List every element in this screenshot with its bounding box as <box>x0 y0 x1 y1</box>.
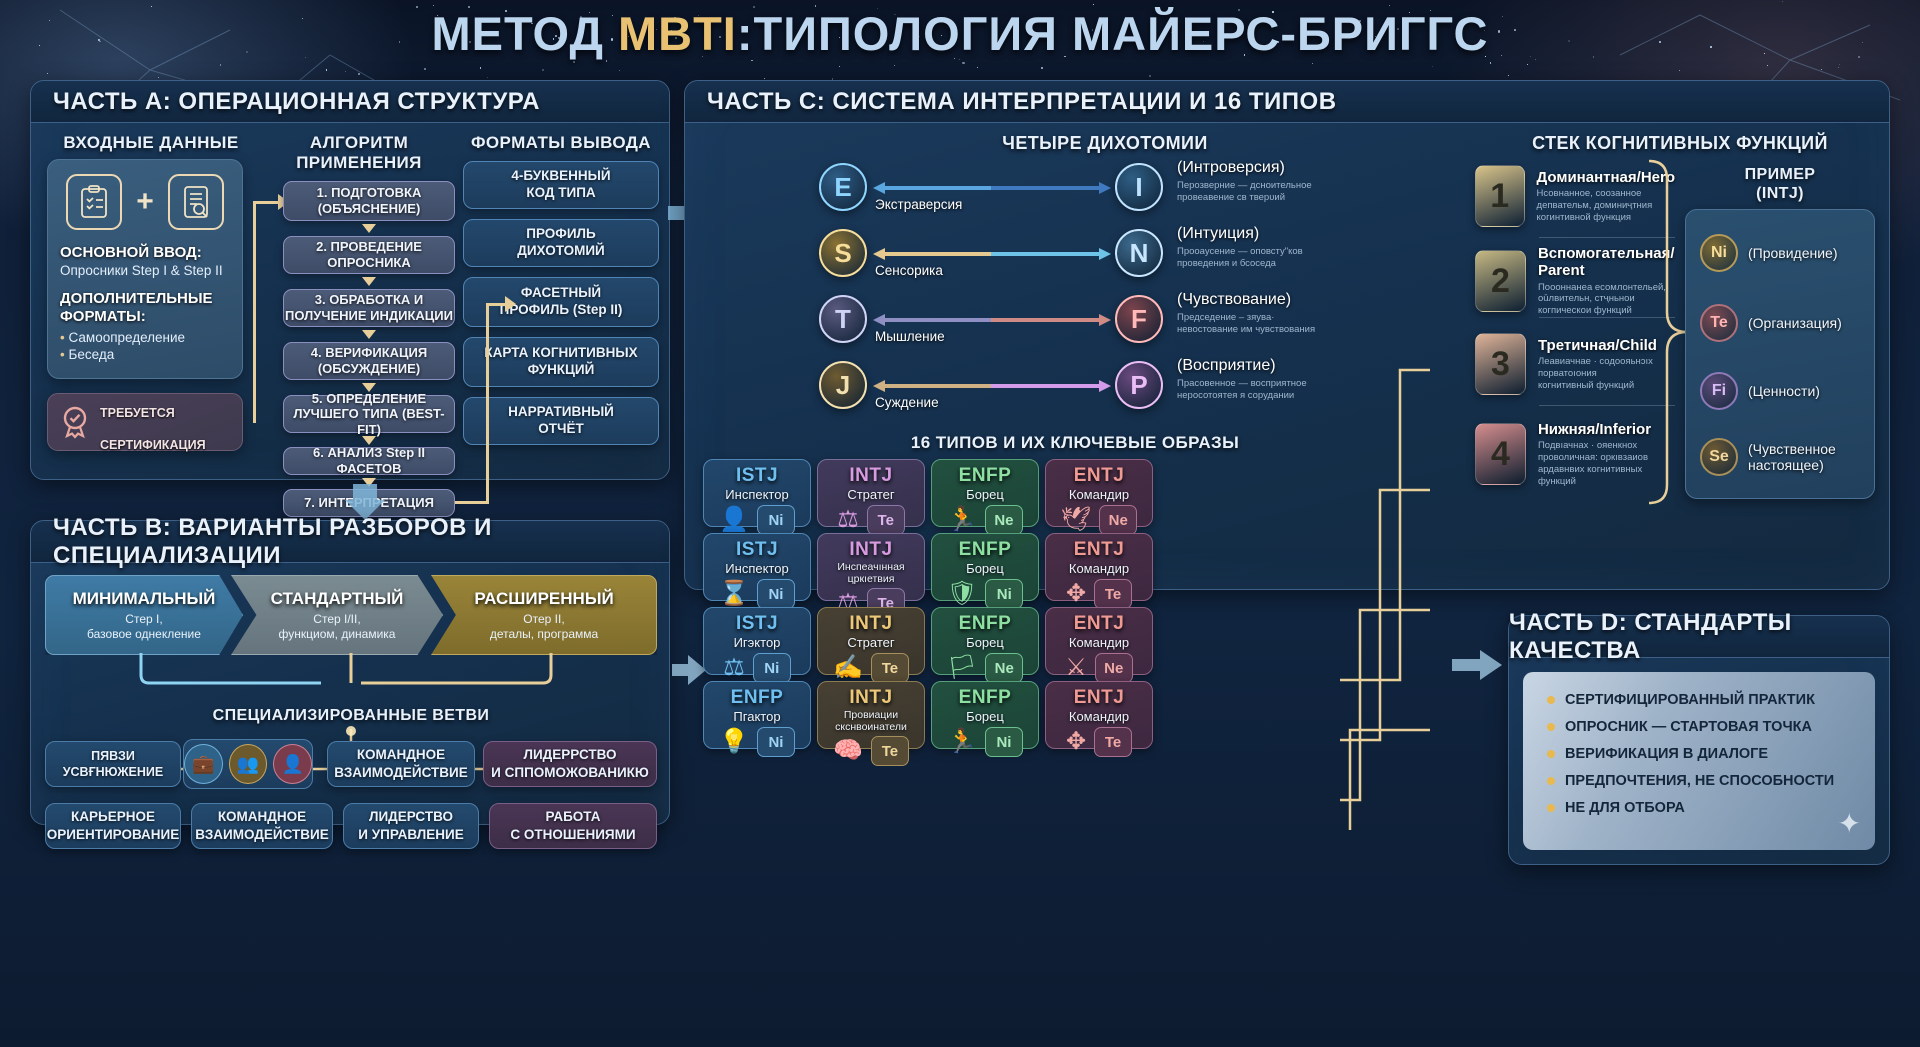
arrow-to-part-d <box>1452 650 1502 685</box>
type-symbol-icon: 🏃 <box>947 508 977 532</box>
step-box-6[interactable]: 6. АНАЛИЗ Step II ФАСЕТОВ <box>283 447 455 475</box>
example-function-label: (Организация) <box>1748 315 1842 331</box>
arrow-b-to-c <box>672 655 706 690</box>
example-function-label: (Провидение) <box>1748 245 1838 261</box>
title-prefix: МЕТОД <box>431 7 618 60</box>
flow-line <box>486 303 489 503</box>
type-function-badge: Ni <box>985 727 1023 757</box>
type-symbol-icon: ⚖ <box>723 656 745 680</box>
certification-required-badge: ТРЕБУЕТСЯ СЕРТИФИКАЦИЯ <box>47 393 243 451</box>
dichotomy-circle-left[interactable]: T <box>819 295 867 343</box>
panel-part-d: ЧАСТЬ D: СТАНДАРТЫ КАЧЕСТВА СЕРТИФИЦИРОВ… <box>1508 615 1890 865</box>
flow-line <box>253 201 256 341</box>
dichotomy-arrow-bar <box>873 181 1111 193</box>
type-card-intj[interactable]: INTJСтратег⚖Te <box>817 459 925 527</box>
quality-standard-text: ОПРОСНИК — СТАРТОВАЯ ТОЧКА <box>1565 719 1812 735</box>
type-name: Борец <box>966 488 1004 502</box>
panel-part-a: ЧАСТЬ A: ОПЕРАЦИОННАЯ СТРУКТУРА ВХОДНЫЕ … <box>30 80 670 480</box>
type-code: ISTJ <box>736 613 778 635</box>
output-box-2[interactable]: ПРОФИЛЬ ДИХОТОМИЙ <box>463 219 659 267</box>
stack-number: 2 <box>1475 250 1526 312</box>
output-box-4[interactable]: КАРТА КОГНИТИВНЫХ ФУНКЦИЙ <box>463 337 659 387</box>
type-code: ENTJ <box>1074 465 1125 487</box>
type-card-entj[interactable]: ENTJКомандир✥Te <box>1045 533 1153 601</box>
dichotomy-right-label: (Интуиция) <box>1177 225 1259 243</box>
type-code: ENFP <box>959 613 1012 635</box>
example-function-circle: Ni <box>1700 234 1738 272</box>
type-card-entj[interactable]: ENTJКомандир✥Te <box>1045 681 1153 749</box>
team-group-icon: 👥 <box>229 744 268 784</box>
example-row-ni[interactable]: Ni(Провидение) <box>1700 234 1870 272</box>
type-card-enfp[interactable]: ENFPБорец🏳Ne <box>931 607 1039 675</box>
type-name: Пгактор <box>733 710 780 724</box>
type-code: ENFP <box>959 465 1012 487</box>
type-symbol-icon: 🏳 <box>947 656 977 680</box>
type-name: Борец <box>966 710 1004 724</box>
part-c-header-text: ЧАСТЬ C: СИСТЕМА ИНТЕРПРЕТАЦИИ И 16 ТИПО… <box>707 88 1337 116</box>
type-card-entj[interactable]: ENTJКомандир⚔Ne <box>1045 607 1153 675</box>
quality-standard-text: ВЕРИФИКАЦИЯ В ДИАЛОГЕ <box>1565 746 1768 762</box>
type-code: INTJ <box>849 465 892 487</box>
dichotomy-description: Председение – зяува· невостование им чув… <box>1177 312 1387 336</box>
type-code: INTJ <box>849 687 892 709</box>
stack-head: СТЕК КОГНИТИВНЫХ ФУНКЦИЙ <box>1485 133 1875 154</box>
type-card-intj[interactable]: INTJСтратег✍Te <box>817 607 925 675</box>
type-card-entj[interactable]: ENTJКомандир🕊Ne <box>1045 459 1153 527</box>
example-row-se[interactable]: Se(Чувственное настоящее) <box>1700 438 1870 476</box>
type-function-badge: Ni <box>757 505 795 535</box>
type-function-badge: Te <box>1094 727 1132 757</box>
type-card-enfp[interactable]: ENFPПгактор💡Ni <box>703 681 811 749</box>
extra-formats-label: ДОПОЛНИТЕЛЬНЫЕ ФОРМАТЫ: <box>60 290 230 326</box>
part-a-header-text: ЧАСТЬ A: ОПЕРАЦИОННАЯ СТРУКТУРА <box>53 88 540 116</box>
quality-standard-item: СЕРТИФИЦИРОВАННЫЙ ПРАКТИК <box>1547 692 1875 708</box>
briefcase-icon: 💼 <box>184 744 223 784</box>
type-name: Стратег <box>847 488 894 502</box>
type-code: ENFP <box>959 687 1012 709</box>
bullet-dot <box>1547 750 1555 758</box>
part-d-header: ЧАСТЬ D: СТАНДАРТЫ КАЧЕСТВА <box>1509 616 1889 658</box>
main-input-label: ОСНОВНОЙ ВВОД: <box>60 244 230 261</box>
type-name: Стратег <box>847 636 894 650</box>
example-function-circle: Fi <box>1700 372 1738 410</box>
quality-standard-item: ОПРОСНИК — СТАРТОВАЯ ТОЧКА <box>1547 719 1875 735</box>
type-card-istj[interactable]: ISTJИнспектор👤Ni <box>703 459 811 527</box>
type-name: Командир <box>1069 562 1129 576</box>
quality-standards-list: СЕРТИФИЦИРОВАННЫЙ ПРАКТИКОПРОСНИК — СТАР… <box>1523 672 1875 816</box>
type-name: Борец <box>966 562 1004 576</box>
dichotomy-description: Перозверние — дсноительное провеавение с… <box>1177 180 1387 204</box>
stack-number: 1 <box>1475 165 1525 227</box>
plus-sign: + <box>136 185 154 219</box>
type-function-badge: Ne <box>985 505 1023 535</box>
certificate-ribbon-icon <box>60 405 90 439</box>
output-box-5[interactable]: НАРРАТИВНЫЙ ОТЧЁТ <box>463 397 659 445</box>
type-name: Командир <box>1069 636 1129 650</box>
type-card-enfp[interactable]: ENFPБорец🏃Ni <box>931 681 1039 749</box>
type-symbol-icon: ⚔ <box>1065 656 1087 680</box>
dichotomy-left-label: Суждение <box>875 395 939 410</box>
title-suffix: :ТИПОЛОГИЯ МАЙЕРС-БРИГГС <box>737 7 1489 60</box>
example-intj-box: Ni(Провидение)Te(Организация)Fi(Ценности… <box>1685 209 1875 499</box>
mid-box-3[interactable]: ЛИДЕРРСТВО И СППОМОЖОВАНИКЮ <box>483 741 657 787</box>
output-box-1[interactable]: 4-БУКВЕННЫЙ КОД ТИПА <box>463 161 659 209</box>
step-box-4[interactable]: 4. ВЕРИФИКАЦИЯ (ОБСУЖДЕНИЕ) <box>283 342 455 380</box>
dichotomy-circle-left[interactable]: J <box>819 361 867 409</box>
type-function-badge: Ni <box>757 579 795 609</box>
quality-standard-text: ПРЕДПОЧТЕНИЯ, НЕ СПОСОБНОСТИ <box>1565 773 1834 789</box>
dichotomy-left-label: Мышление <box>875 329 945 344</box>
type-card-istj[interactable]: ISTJИгэктор⚖Ni <box>703 607 811 675</box>
bottom-box-2[interactable]: КОМАНДНОЕ ВЗАИМОДЕЙСТВИЕ <box>191 803 333 849</box>
step-arrow <box>362 330 376 339</box>
flow-arrowhead <box>505 296 516 312</box>
level-title: РАСШИРЕННЫЙ <box>474 589 613 609</box>
type-code: ENTJ <box>1074 613 1125 635</box>
dichotomy-description: Прасовенное — восприятное неросотоятея я… <box>1177 378 1387 402</box>
type-symbol-icon: 🛡 <box>947 582 977 606</box>
dichotomy-right-label: (Интроверсия) <box>1177 159 1285 177</box>
col-head-algorithm: АЛГОРИТМ ПРИМЕНЕНИЯ <box>263 133 455 173</box>
type-symbol-icon: 🧠 <box>833 739 863 763</box>
example-function-label: (Чувственное настоящее) <box>1748 441 1836 473</box>
level-title: МИНИМАЛЬНЫЙ <box>73 589 216 609</box>
type-name: Командир <box>1069 488 1129 502</box>
part-b-header-text: ЧАСТЬ B: ВАРИАНТЫ РАЗБОРОВ И СПЕЦИАЛИЗАЦ… <box>53 514 669 570</box>
quality-standard-text: НЕ ДЛЯ ОТБОРА <box>1565 800 1685 816</box>
extra-format-item: Самоопределение <box>69 330 186 345</box>
title-brand: MBTI <box>618 7 737 60</box>
step-arrow <box>362 277 376 286</box>
type-name: Провиации скснвоинатели <box>835 710 907 733</box>
dichotomy-circle-right[interactable]: I <box>1115 163 1163 211</box>
step-box-5[interactable]: 5. ОПРЕДЕЛЕНИЕ ЛУЧШЕГО ТИПА (BEST-FIT) <box>283 395 455 433</box>
type-name: Инспектор <box>725 488 788 502</box>
types-head: 16 ТИПОВ И ИХ КЛЮЧЕВЫЕ ОБРАЗЫ <box>745 433 1405 453</box>
type-function-badge: Te <box>867 505 905 535</box>
type-function-badge: Te <box>1094 579 1132 609</box>
level-title: СТАНДАРТНЫЙ <box>271 589 404 609</box>
mid-box-1[interactable]: ПЯВЗИ УСВҒНЮЖЕНИЕ <box>45 741 181 787</box>
dichotomy-right-label: (Восприятие) <box>1177 357 1276 375</box>
part-b-header: ЧАСТЬ B: ВАРИАНТЫ РАЗБОРОВ И СПЕЦИАЛИЗАЦ… <box>31 521 669 563</box>
level-card-extended[interactable]: РАСШИРЕННЫЙ Отер II, деталы, программа <box>431 575 657 655</box>
type-code: ENFP <box>959 539 1012 561</box>
bottom-box-1[interactable]: КАРЬЕРНОЕ ОРИЕНТИРОВАНИЕ <box>45 803 181 849</box>
type-name: Игэктор <box>734 636 781 650</box>
flow-line <box>253 201 281 204</box>
type-function-badge: Ni <box>985 579 1023 609</box>
document-search-icon <box>168 174 224 230</box>
flow-line <box>253 339 256 423</box>
stack-number: 4 <box>1475 423 1526 485</box>
cert-line-2: СЕРТИФИКАЦИЯ <box>100 438 206 452</box>
type-symbol-icon: ⌛ <box>719 582 749 606</box>
col-head-output: ФОРМАТЫ ВЫВОДА <box>463 133 659 153</box>
step-box-2[interactable]: 2. ПРОВЕДЕНИЕ ОПРОСНИКА <box>283 236 455 274</box>
col-head-input: ВХОДНЫЕ ДАННЫЕ <box>47 133 255 153</box>
type-code: ENTJ <box>1074 539 1125 561</box>
quality-standard-text: СЕРТИФИЦИРОВАННЫЙ ПРАКТИК <box>1565 692 1815 708</box>
type-function-badge: Ni <box>753 653 791 683</box>
dichotomy-circle-right[interactable]: N <box>1115 229 1163 277</box>
example-function-circle: Te <box>1700 304 1738 342</box>
panel-part-b: ЧАСТЬ B: ВАРИАНТЫ РАЗБОРОВ И СПЕЦИАЛИЗАЦ… <box>30 520 670 825</box>
type-code: ISTJ <box>736 539 778 561</box>
type-code: ENTJ <box>1074 687 1125 709</box>
type-function-badge: Ne <box>985 653 1023 683</box>
page-title: МЕТОД MBTI:ТИПОЛОГИЯ МАЙЕРС-БРИГГС <box>0 6 1920 61</box>
type-code: ISTJ <box>736 465 778 487</box>
quality-standard-item: ВЕРИФИКАЦИЯ В ДИАЛОГЕ <box>1547 746 1875 762</box>
mid-box-2[interactable]: КОМАНДНОЕ ВЗАИМОДЕЙСТВИЕ <box>327 741 475 787</box>
type-function-badge: Ne <box>1095 653 1133 683</box>
type-symbol-icon: 🏃 <box>947 730 977 754</box>
dichotomy-circle-left[interactable]: S <box>819 229 867 277</box>
type-card-enfp[interactable]: ENFPБорец🛡Ni <box>931 533 1039 601</box>
step-arrow <box>362 436 376 445</box>
extra-format-item: Беседа <box>69 347 115 362</box>
dichotomy-arrow-bar <box>873 379 1111 391</box>
branch-icons-group: 💼 👥 👤 <box>183 739 313 789</box>
step-box-1[interactable]: 1. ПОДГОТОВКА (ОБЪЯСНЕНИЕ) <box>283 181 455 221</box>
dichotomy-left-label: Экстраверсия <box>875 197 962 212</box>
bullet-dot <box>1547 696 1555 704</box>
part-d-header-text: ЧАСТЬ D: СТАНДАРТЫ КАЧЕСТВА <box>1509 609 1889 665</box>
type-symbol-icon: ✥ <box>1066 730 1086 754</box>
dichotomy-left-label: Сенсорика <box>875 263 943 278</box>
level-sub: Стер I/II, функциом, динамика <box>279 612 396 642</box>
flow-line <box>455 501 489 504</box>
type-card-intj[interactable]: INTJПровиации скснвоинатели🧠Te <box>817 681 925 749</box>
type-code: ENFP <box>731 687 784 709</box>
example-function-circle: Se <box>1700 438 1738 476</box>
dichotomy-right-label: (Чувствование) <box>1177 291 1291 309</box>
type-symbol-icon: 🕊 <box>1061 508 1091 532</box>
output-box-3[interactable]: ФАСЕТНЫЙ ПРОФИЛЬ (Step II) <box>463 277 659 327</box>
dichotomy-circle-right[interactable]: F <box>1115 295 1163 343</box>
type-function-badge: Ne <box>1099 505 1137 535</box>
dichotomy-arrow-bar <box>873 313 1111 325</box>
type-name: Командир <box>1069 710 1129 724</box>
level-sub: Стер I, базовое однекление <box>87 612 201 642</box>
branches-head: СПЕЦИАЛИЗИРОВАННЫЕ ВЕТВИ <box>31 707 671 725</box>
type-name: Инспектор <box>725 562 788 576</box>
type-function-badge: Ni <box>757 727 795 757</box>
type-name: Борец <box>966 636 1004 650</box>
dichotomy-arrow-bar <box>873 247 1111 259</box>
sparkle-icon: ✦ <box>1838 807 1861 840</box>
part-d-body: СЕРТИФИЦИРОВАННЫЙ ПРАКТИКОПРОСНИК — СТАР… <box>1523 672 1875 850</box>
type-symbol-icon: 👤 <box>719 508 749 532</box>
main-input-value: Опросники Step I & Step II <box>60 263 230 278</box>
type-code: INTJ <box>849 539 892 561</box>
step-arrow <box>362 224 376 233</box>
clipboard-checklist-icon <box>66 174 122 230</box>
bullet-dot <box>1547 723 1555 731</box>
level-card-minimal[interactable]: МИНИМАЛЬНЫЙ Стер I, базовое однекление <box>45 575 243 655</box>
type-function-badge: Te <box>871 653 909 683</box>
dichotomy-circle-left[interactable]: E <box>819 163 867 211</box>
type-code: INTJ <box>849 613 892 635</box>
stack-number: 3 <box>1475 333 1526 395</box>
quality-standard-item: ПРЕДПОЧТЕНИЯ, НЕ СПОСОБНОСТИ <box>1547 773 1875 789</box>
input-data-card: + ОСНОВНОЙ ВВОД: Опросники Step I & Step… <box>47 159 243 379</box>
type-symbol-icon: ✥ <box>1066 582 1086 606</box>
person-settings-icon: 👤 <box>273 744 312 784</box>
part-c-header: ЧАСТЬ C: СИСТЕМА ИНТЕРПРЕТАЦИИ И 16 ТИПО… <box>685 81 1889 123</box>
bottom-box-3[interactable]: ЛИДЕРСТВО И УПРАВЛЕНИЕ <box>343 803 479 849</box>
bullet-dot <box>1547 777 1555 785</box>
type-card-enfp[interactable]: ENFPБорец🏃Ne <box>931 459 1039 527</box>
bottom-box-4[interactable]: РАБОТА С ОТНОШЕНИЯМИ <box>489 803 657 849</box>
level-sub: Отер II, деталы, программа <box>490 612 598 642</box>
example-function-label: (Ценности) <box>1748 383 1820 399</box>
dichotomy-circle-right[interactable]: P <box>1115 361 1163 409</box>
step-box-3[interactable]: 3. ОБРАБОТКА И ПОЛУЧЕНИЕ ИНДИКАЦИИ <box>283 289 455 327</box>
type-symbol-icon: 💡 <box>719 730 749 754</box>
quality-standard-item: НЕ ДЛЯ ОТБОРА <box>1547 800 1875 816</box>
dichotomies-head: ЧЕТЫРЕ ДИХОТОМИИ <box>825 133 1385 154</box>
type-card-intj[interactable]: INTJИнспеачıнная цркıетвия⚖Te <box>817 533 925 601</box>
type-card-istj[interactable]: ISTJИнспектор⌛Ni <box>703 533 811 601</box>
type-function-badge: Te <box>871 736 909 766</box>
example-head: ПРИМЕР (INTJ) <box>1685 165 1875 203</box>
level-connectors <box>31 653 671 703</box>
dichotomy-description: Прооаусение — оповсту"ков проведения и б… <box>1177 246 1387 270</box>
type-symbol-icon: ✍ <box>833 656 863 680</box>
example-row-fi[interactable]: Fi(Ценности) <box>1700 372 1870 410</box>
example-row-te[interactable]: Te(Организация) <box>1700 304 1870 342</box>
type-symbol-icon: ⚖ <box>837 508 859 532</box>
panel-part-c: ЧАСТЬ C: СИСТЕМА ИНТЕРПРЕТАЦИИ И 16 ТИПО… <box>684 80 1890 590</box>
bullet-dot <box>1547 804 1555 812</box>
part-a-header: ЧАСТЬ A: ОПЕРАЦИОННАЯ СТРУКТУРА <box>31 81 669 123</box>
level-card-standard[interactable]: СТАНДАРТНЫЙ Стер I/II, функциом, динамик… <box>231 575 443 655</box>
cert-line-1: ТРЕБУЕТСЯ <box>100 406 175 420</box>
type-name: Инспеачıнная цркıетвия <box>837 562 904 585</box>
